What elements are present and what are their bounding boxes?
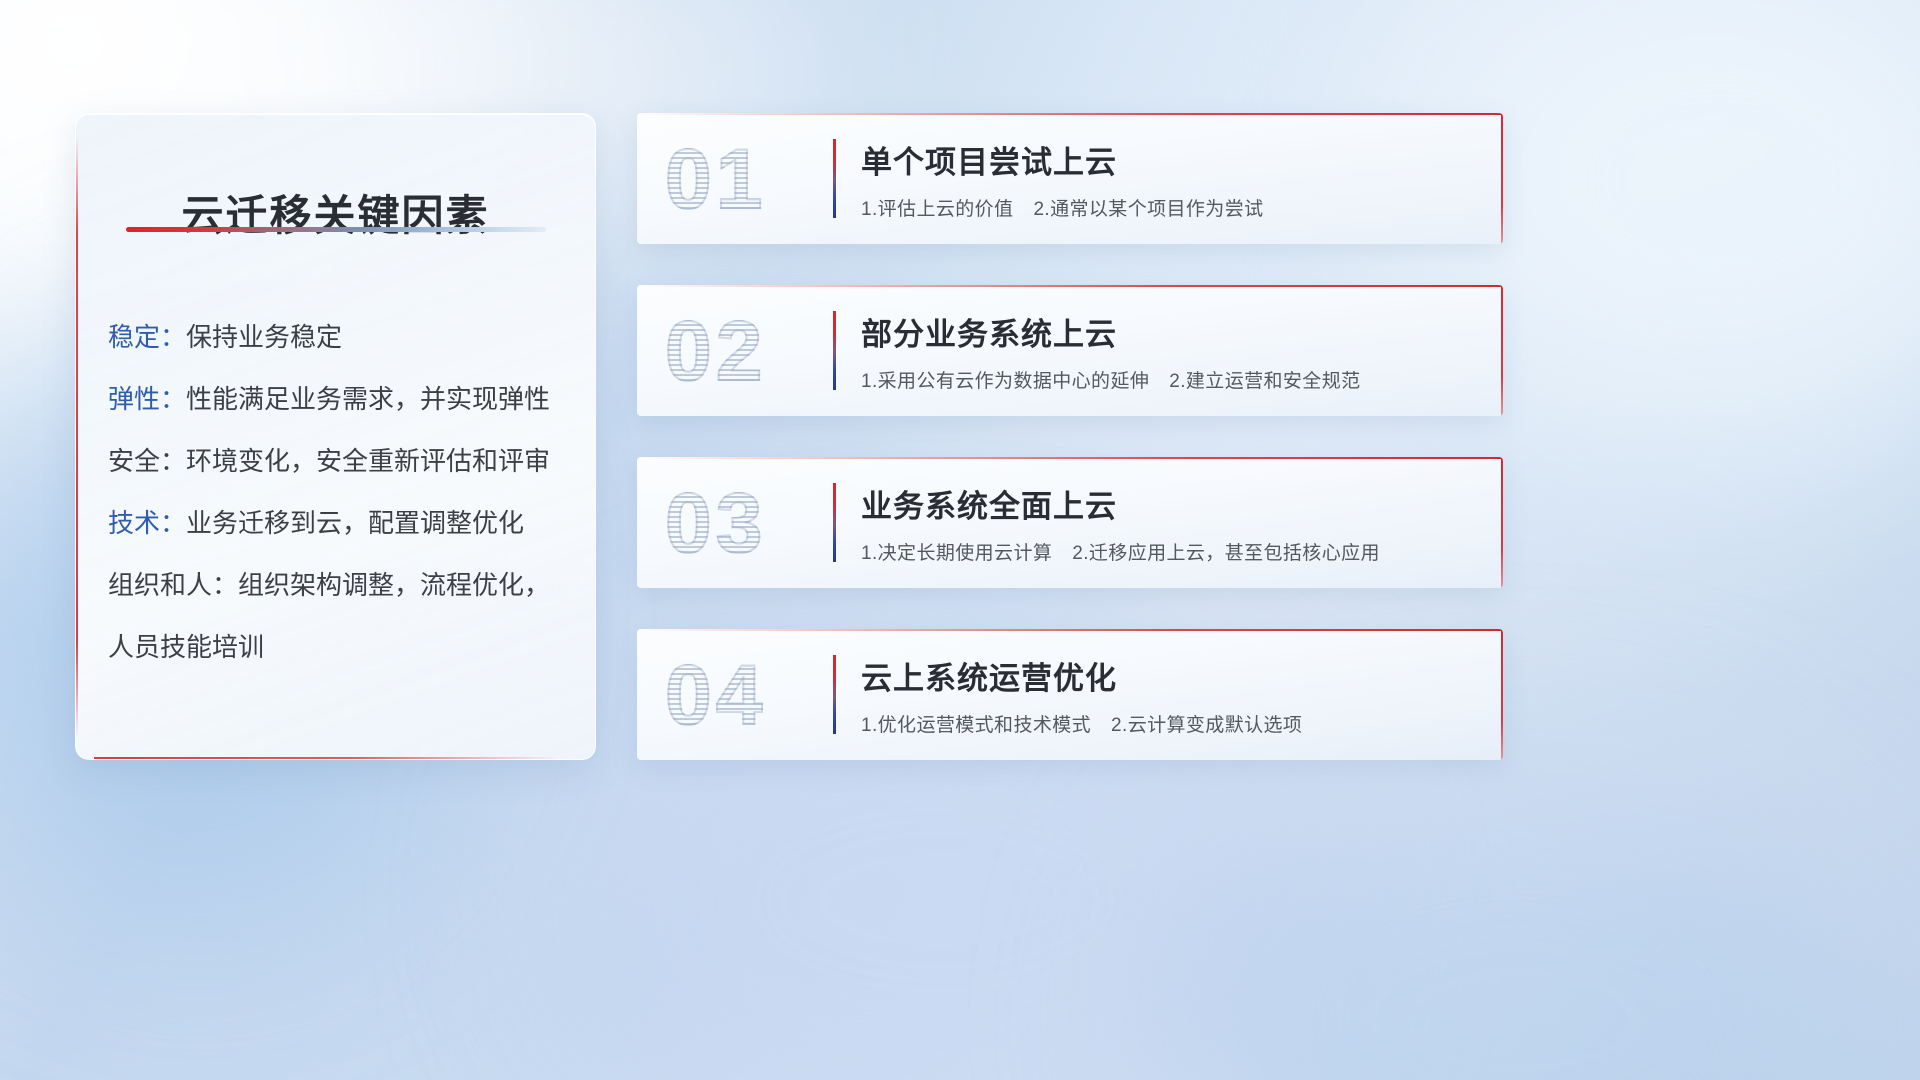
step-description-part-2: 2.云计算变成默认选项 [1111, 715, 1302, 736]
step-card-01[interactable]: 01 单个项目尝试上云 1.评估上云的价值2.通常以某个项目作为尝试 [637, 113, 1503, 244]
factor-text: 业务迁移到云，配置调整优化 [186, 508, 524, 538]
step-divider-line [833, 311, 836, 390]
factor-label: 弹性： [108, 384, 186, 414]
step-description: 1.评估上云的价值2.通常以某个项目作为尝试 [861, 194, 1475, 221]
step-title: 单个项目尝试上云 [861, 137, 1475, 182]
step-number-badge: 02 [665, 309, 766, 393]
step-description: 1.采用公有云作为数据中心的延伸2.建立运营和安全规范 [861, 366, 1475, 393]
step-description: 1.决定长期使用云计算2.迁移应用上云，甚至包括核心应用 [861, 538, 1475, 565]
page-title: 云迁移关键因素 [76, 182, 595, 243]
factor-label: 稳定： [108, 322, 186, 352]
factor-text: 组织架构调整，流程优化， [238, 570, 550, 600]
step-description-part-2: 2.通常以某个项目作为尝试 [1033, 199, 1263, 220]
key-factors-panel: 云迁移关键因素 稳定：保持业务稳定 弹性：性能满足业务需求，并实现弹性 安全：环… [75, 113, 596, 760]
step-description-part-1: 1.采用公有云作为数据中心的延伸 [861, 371, 1149, 392]
slide-canvas: 云迁移关键因素 稳定：保持业务稳定 弹性：性能满足业务需求，并实现弹性 安全：环… [0, 0, 1920, 1080]
step-description-part-1: 1.评估上云的价值 [861, 199, 1013, 220]
step-title: 业务系统全面上云 [861, 481, 1475, 526]
step-number-badge: 01 [665, 137, 766, 221]
key-factors-list: 稳定：保持业务稳定 弹性：性能满足业务需求，并实现弹性 安全：环境变化，安全重新… [108, 306, 571, 678]
background-blob [1160, 760, 1880, 1080]
migration-steps-list: 01 单个项目尝试上云 1.评估上云的价值2.通常以某个项目作为尝试 02 部分… [637, 113, 1503, 801]
list-item: 弹性：性能满足业务需求，并实现弹性 [108, 368, 571, 430]
list-item: 安全：环境变化，安全重新评估和评审 [108, 430, 571, 492]
step-description-part-1: 1.优化运营模式和技术模式 [861, 715, 1091, 736]
step-card-04[interactable]: 04 云上系统运营优化 1.优化运营模式和技术模式2.云计算变成默认选项 [637, 629, 1503, 760]
factor-label: 安全： [108, 446, 186, 476]
list-item: 人员技能培训 [108, 616, 571, 678]
step-card-02[interactable]: 02 部分业务系统上云 1.采用公有云作为数据中心的延伸2.建立运营和安全规范 [637, 285, 1503, 416]
step-content: 单个项目尝试上云 1.评估上云的价值2.通常以某个项目作为尝试 [861, 137, 1475, 221]
factor-text: 性能满足业务需求，并实现弹性 [186, 384, 550, 414]
step-divider-line [833, 139, 836, 218]
title-underline-rule [126, 227, 546, 232]
factor-label: 技术： [108, 508, 186, 538]
step-content: 业务系统全面上云 1.决定长期使用云计算2.迁移应用上云，甚至包括核心应用 [861, 481, 1475, 565]
step-number-badge: 04 [665, 653, 766, 737]
list-item: 技术：业务迁移到云，配置调整优化 [108, 492, 571, 554]
step-divider-line [833, 483, 836, 562]
list-item: 组织和人：组织架构调整，流程优化， [108, 554, 571, 616]
step-title: 云上系统运营优化 [861, 653, 1475, 698]
step-number-badge: 03 [665, 481, 766, 565]
step-content: 部分业务系统上云 1.采用公有云作为数据中心的延伸2.建立运营和安全规范 [861, 309, 1475, 393]
step-title: 部分业务系统上云 [861, 309, 1475, 354]
factor-text: 环境变化，安全重新评估和评审 [186, 446, 550, 476]
step-description-part-2: 2.迁移应用上云，甚至包括核心应用 [1072, 543, 1380, 564]
factor-label: 组织和人： [108, 570, 238, 600]
step-card-03[interactable]: 03 业务系统全面上云 1.决定长期使用云计算2.迁移应用上云，甚至包括核心应用 [637, 457, 1503, 588]
step-description-part-2: 2.建立运营和安全规范 [1169, 371, 1360, 392]
factor-text: 人员技能培训 [108, 632, 264, 662]
step-divider-line [833, 655, 836, 734]
step-content: 云上系统运营优化 1.优化运营模式和技术模式2.云计算变成默认选项 [861, 653, 1475, 737]
step-description-part-1: 1.决定长期使用云计算 [861, 543, 1052, 564]
step-description: 1.优化运营模式和技术模式2.云计算变成默认选项 [861, 710, 1475, 737]
factor-text: 保持业务稳定 [186, 322, 342, 352]
list-item: 稳定：保持业务稳定 [108, 306, 571, 368]
